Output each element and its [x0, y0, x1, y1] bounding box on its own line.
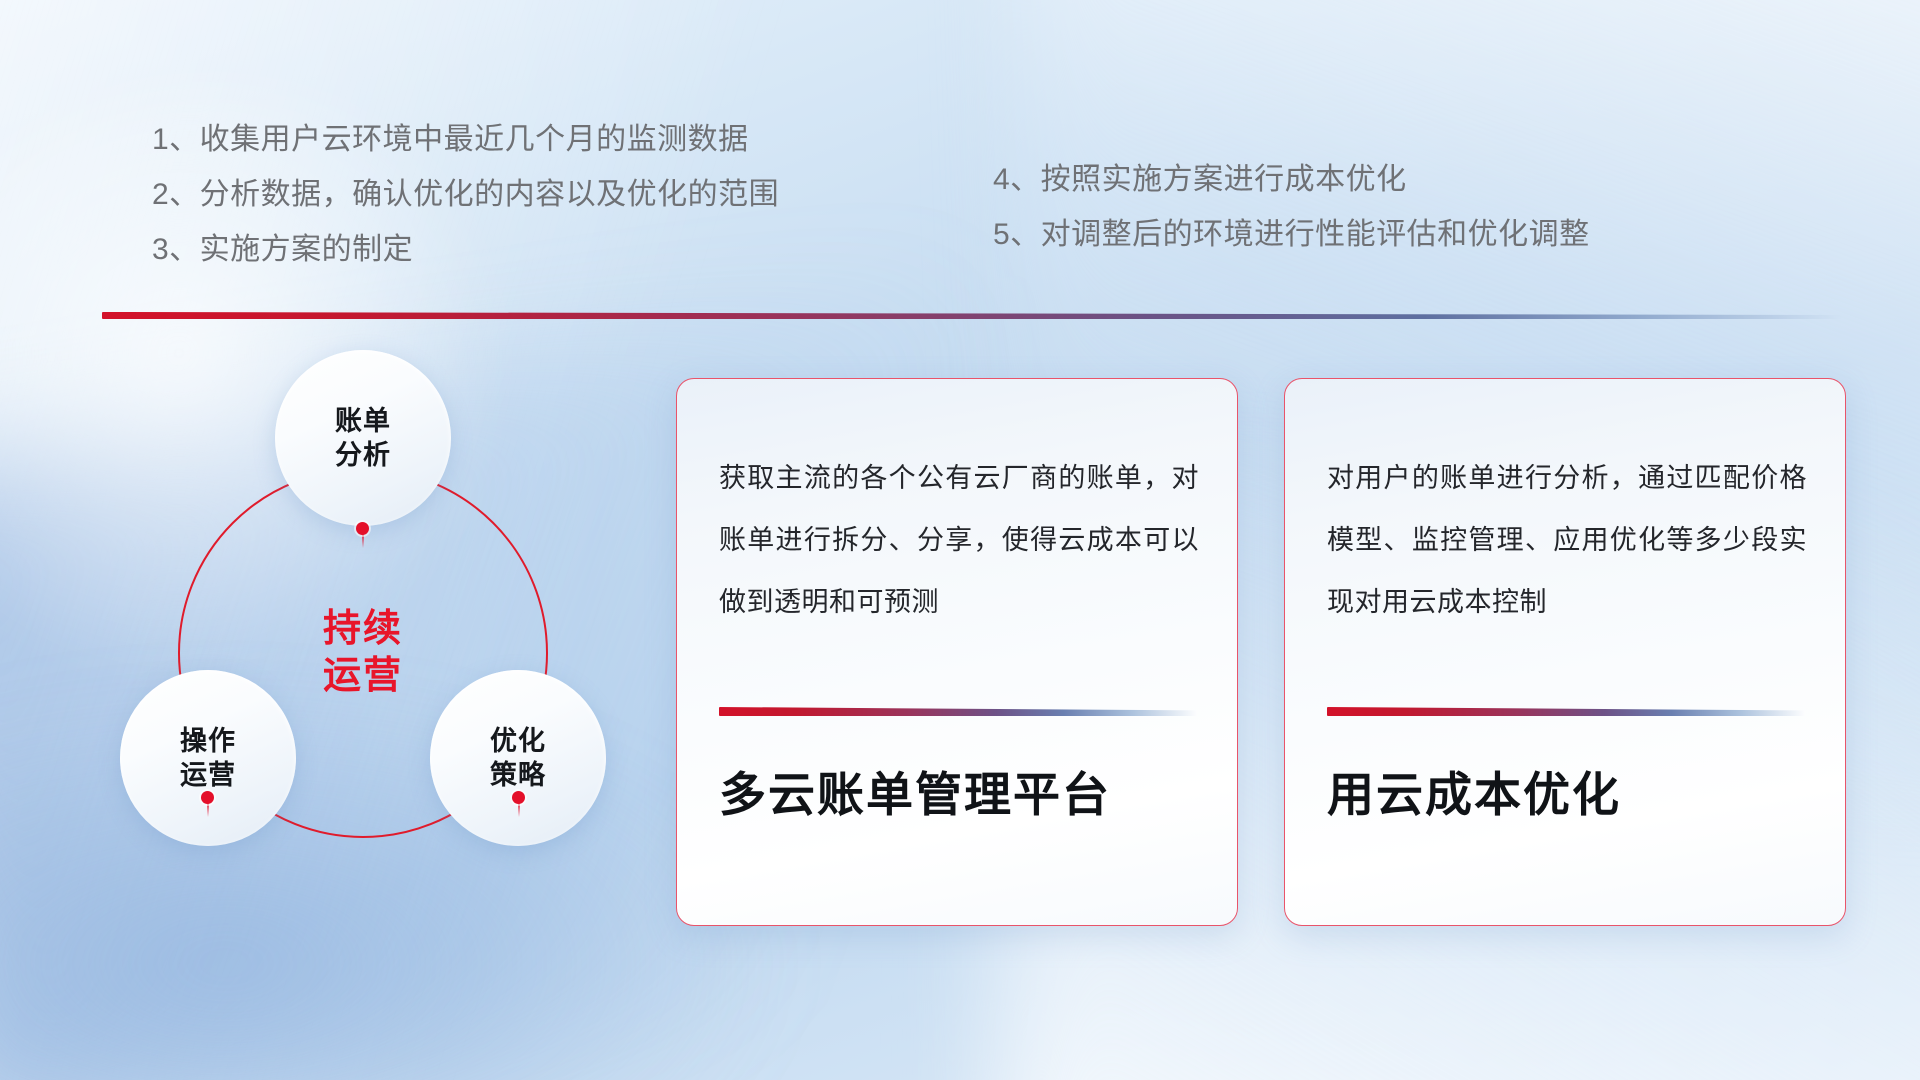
step-item-2: 2、分析数据，确认优化的内容以及优化的范围 — [152, 167, 779, 222]
card-title: 用云成本优化 — [1327, 765, 1805, 825]
step-item-4: 4、按照实施方案进行成本优化 — [993, 152, 1590, 207]
card-description: 获取主流的各个公有云厂商的账单，对账单进行拆分、分享，使得云成本可以做到透明和可… — [719, 447, 1199, 633]
feature-card-multi-cloud-billing-platform[interactable]: 获取主流的各个公有云厂商的账单，对账单进行拆分、分享，使得云成本可以做到透明和可… — [676, 378, 1238, 926]
card-description: 对用户的账单进行分析，通过匹配价格模型、监控管理、应用优化等多少段实现对用云成本… — [1327, 447, 1807, 633]
card-accent-rule — [719, 707, 1197, 716]
diagram-node-bill-analysis[interactable]: 账单 分析 — [275, 350, 451, 526]
slide-canvas: 1、收集用户云环境中最近几个月的监测数据 2、分析数据，确认优化的内容以及优化的… — [0, 0, 1920, 1080]
steps-right-column: 4、按照实施方案进行成本优化 5、对调整后的环境进行性能评估和优化调整 — [993, 152, 1590, 262]
step-item-5: 5、对调整后的环境进行性能评估和优化调整 — [993, 207, 1590, 262]
feature-card-cloud-cost-optimization[interactable]: 对用户的账单进行分析，通过匹配价格模型、监控管理、应用优化等多少段实现对用云成本… — [1284, 378, 1846, 926]
diagram-node-optimization-strategy[interactable]: 优化 策略 — [430, 670, 606, 846]
diagram-node-label: 优化 策略 — [490, 724, 546, 792]
continuous-operation-diagram: 账单 分析 操作 运营 优化 策略 持续 运营 — [100, 350, 640, 950]
diagram-dot-top — [356, 522, 369, 535]
card-accent-rule — [1327, 707, 1805, 716]
diagram-node-operations[interactable]: 操作 运营 — [120, 670, 296, 846]
process-steps-list: 1、收集用户云环境中最近几个月的监测数据 2、分析数据，确认优化的内容以及优化的… — [0, 0, 1920, 300]
diagram-node-label: 操作 运营 — [180, 724, 236, 792]
diagram-dot-left — [201, 791, 214, 804]
card-title: 多云账单管理平台 — [719, 765, 1197, 825]
step-item-3: 3、实施方案的制定 — [152, 222, 779, 277]
step-item-1: 1、收集用户云环境中最近几个月的监测数据 — [152, 112, 779, 167]
diagram-node-label: 账单 分析 — [335, 404, 391, 472]
diagram-dot-right — [512, 791, 525, 804]
feature-cards: 获取主流的各个公有云厂商的账单，对账单进行拆分、分享，使得云成本可以做到透明和可… — [676, 378, 1892, 938]
steps-left-column: 1、收集用户云环境中最近几个月的监测数据 2、分析数据，确认优化的内容以及优化的… — [152, 112, 779, 277]
